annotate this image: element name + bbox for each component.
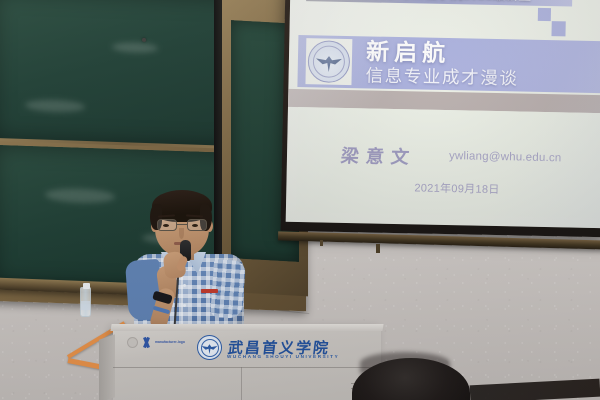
presenter-nose [179, 228, 184, 239]
projection-screen-frame: 信息科学与工程学院2021级新生 新启航 信息专业成才漫谈 梁意文 ywlian [281, 0, 600, 237]
chalk-smudge [25, 99, 85, 113]
seal-eagle-icon [316, 56, 342, 73]
podium-seam-vertical [241, 367, 242, 400]
water-bottle [80, 287, 91, 317]
slide-subtitle: 信息专业成才漫谈 [365, 67, 518, 88]
chalk-smudge [45, 188, 115, 204]
university-seal-icon [307, 40, 350, 83]
slide-title-group: 新启航 信息专业成才漫谈 [365, 40, 519, 88]
lecture-hall-photo: 信息科学与工程学院2021级新生 新启航 信息专业成才漫谈 梁意文 ywlian [0, 0, 600, 400]
screen-mount-peg [376, 244, 380, 253]
slide-header-band: 信息科学与工程学院2021级新生 [306, 0, 572, 7]
bottle-cap [83, 283, 90, 289]
decorative-square-1 [538, 8, 551, 21]
slide-main-title: 新启航 [366, 40, 519, 66]
podium-manufacturer-mark: manufacturer-logo [127, 337, 185, 348]
slide-speaker-email: ywliang@whu.edu.cn [449, 150, 562, 164]
podium-university-name-en: WUCHANG SHOUYI UNIVERSITY [227, 354, 339, 359]
presenter-eye-right [192, 224, 198, 227]
decorative-square-2 [551, 21, 565, 36]
blackboard-panel-upper [0, 0, 250, 147]
projection-screen: 信息科学与工程学院2021级新生 新启航 信息专业成才漫谈 梁意文 ywlian [286, 0, 600, 228]
slide-logo-box [305, 38, 352, 85]
shirt-pocket-logo [201, 289, 218, 293]
slide-date: 2021年09月18日 [414, 179, 500, 197]
manufacturer-label: manufacturer-logo [155, 340, 185, 344]
podium-eagle-icon [202, 344, 218, 354]
podium-seal-icon [197, 335, 222, 360]
slide-speaker-name: 梁意文 [340, 142, 418, 169]
screen-mount-peg [320, 240, 323, 246]
manufacturer-x-icon [141, 337, 152, 348]
shirt-button [183, 284, 186, 287]
presenter-eye-left [163, 224, 169, 227]
shirt-button [183, 304, 186, 307]
lectern-podium: manufacturer-logo 武昌首义学院 WUCHANG SHOUYI … [113, 329, 381, 400]
manufacturer-circle-icon [127, 337, 138, 348]
slide-title-band: 新启航 信息专业成才漫谈 [297, 35, 600, 93]
blackboard-mark [142, 38, 146, 42]
podium-seam-horizontal [113, 367, 381, 368]
glasses-bridge [177, 224, 187, 225]
podium-top-surface [110, 324, 383, 331]
bottle-label [81, 301, 90, 310]
slide-header-text: 信息科学与工程学院2021级新生 [347, 0, 532, 3]
chalk-smudge [112, 42, 158, 54]
slide-footer-area: 梁意文 ywliang@whu.edu.cn 2021年09月18日 [296, 107, 600, 218]
